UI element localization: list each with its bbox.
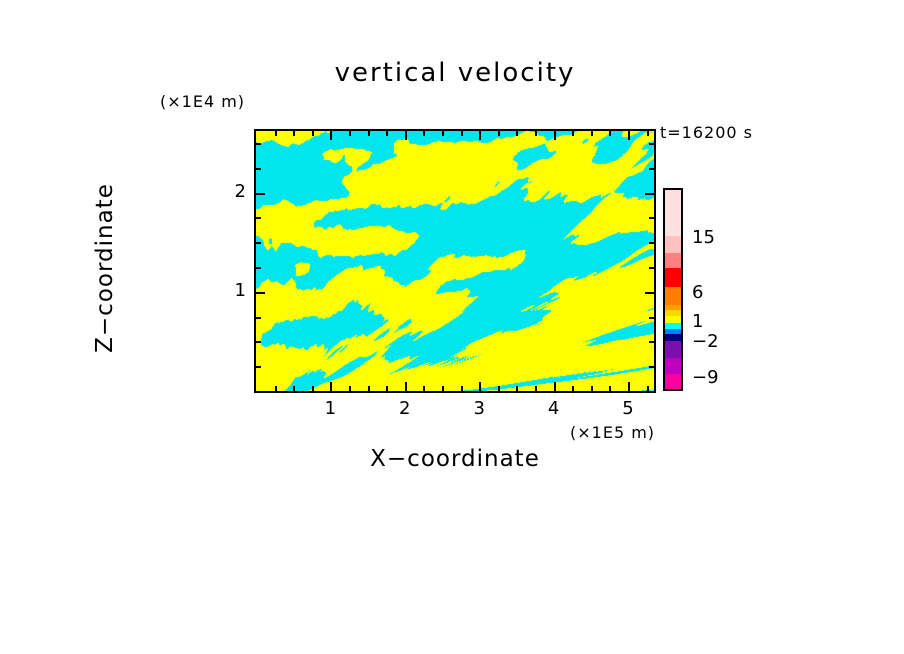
- tick-mark: [591, 131, 593, 136]
- tick-mark: [535, 386, 537, 391]
- tick-mark: [423, 386, 425, 391]
- y-axis-label: Z−coordinate: [92, 158, 118, 378]
- tick-mark: [649, 341, 654, 343]
- tick-mark: [628, 382, 630, 391]
- colorbar: [663, 188, 683, 391]
- tick-mark: [647, 386, 649, 391]
- tick-mark: [256, 242, 261, 244]
- tick-mark: [312, 386, 314, 391]
- tick-mark: [479, 382, 481, 391]
- colorbar-tick-label: −9: [692, 367, 719, 388]
- colorbar-band: [665, 334, 681, 341]
- tick-mark: [645, 193, 654, 195]
- tick-mark: [405, 131, 407, 140]
- tick-mark: [256, 292, 265, 294]
- tick-mark: [498, 131, 500, 136]
- x-axis-units: (×1E5 m): [570, 423, 655, 442]
- tick-mark: [275, 131, 277, 136]
- tick-mark: [330, 131, 332, 140]
- tick-mark: [649, 267, 654, 269]
- tick-mark: [349, 131, 351, 136]
- colorbar-tick-label: −2: [692, 331, 719, 352]
- tick-mark: [479, 131, 481, 140]
- tick-mark: [256, 366, 261, 368]
- tick-mark: [275, 386, 277, 391]
- tick-mark: [554, 382, 556, 391]
- x-tick-label: 5: [613, 398, 643, 419]
- colorbar-band: [665, 341, 681, 358]
- tick-mark: [516, 131, 518, 136]
- tick-mark: [649, 143, 654, 145]
- tick-mark: [649, 366, 654, 368]
- tick-mark: [649, 168, 654, 170]
- tick-mark: [256, 217, 261, 219]
- tick-mark: [349, 386, 351, 391]
- vertical-velocity-figure: vertical velocity (×1E4 m) t=16200 s Z−c…: [0, 0, 904, 654]
- tick-mark: [256, 267, 261, 269]
- tick-mark: [572, 386, 574, 391]
- y-tick-label: 2: [216, 181, 246, 202]
- tick-mark: [649, 242, 654, 244]
- tick-mark: [330, 382, 332, 391]
- tick-mark: [256, 193, 265, 195]
- tick-mark: [293, 386, 295, 391]
- tick-mark: [572, 131, 574, 136]
- colorbar-tick-label: 1: [692, 311, 703, 332]
- tick-mark: [386, 386, 388, 391]
- colorbar-band: [665, 190, 681, 236]
- tick-mark: [649, 217, 654, 219]
- tick-mark: [405, 382, 407, 391]
- tick-mark: [645, 292, 654, 294]
- colorbar-band: [665, 268, 681, 287]
- tick-mark: [256, 317, 261, 319]
- tick-mark: [554, 131, 556, 140]
- tick-mark: [442, 131, 444, 136]
- y-axis-units: (×1E4 m): [160, 92, 245, 111]
- tick-mark: [386, 131, 388, 136]
- colorbar-band: [665, 316, 681, 323]
- velocity-field-canvas: [256, 131, 654, 391]
- tick-mark: [609, 386, 611, 391]
- x-axis-label: X−coordinate: [254, 446, 656, 472]
- tick-mark: [256, 143, 261, 145]
- colorbar-band: [665, 374, 681, 391]
- timestamp-annotation: t=16200 s: [660, 123, 753, 142]
- tick-mark: [293, 131, 295, 136]
- tick-mark: [256, 168, 261, 170]
- tick-mark: [368, 131, 370, 136]
- tick-mark: [628, 131, 630, 140]
- heatmap-plot-area: [254, 129, 656, 393]
- x-tick-label: 1: [315, 398, 345, 419]
- tick-mark: [609, 131, 611, 136]
- colorbar-band: [665, 236, 681, 253]
- colorbar-band: [665, 287, 681, 305]
- tick-mark: [256, 341, 261, 343]
- page-title: vertical velocity: [254, 58, 656, 88]
- tick-mark: [461, 386, 463, 391]
- colorbar-band: [665, 358, 681, 374]
- tick-mark: [368, 386, 370, 391]
- tick-mark: [461, 131, 463, 136]
- tick-mark: [498, 386, 500, 391]
- tick-mark: [649, 317, 654, 319]
- tick-mark: [535, 131, 537, 136]
- tick-mark: [442, 386, 444, 391]
- x-tick-label: 4: [539, 398, 569, 419]
- x-tick-label: 2: [390, 398, 420, 419]
- tick-mark: [647, 131, 649, 136]
- tick-mark: [516, 386, 518, 391]
- colorbar-tick-label: 6: [692, 282, 703, 303]
- colorbar-band: [665, 253, 681, 268]
- tick-mark: [423, 131, 425, 136]
- x-tick-label: 3: [464, 398, 494, 419]
- colorbar-tick-label: 15: [692, 227, 715, 248]
- tick-mark: [591, 386, 593, 391]
- tick-mark: [312, 131, 314, 136]
- y-tick-label: 1: [216, 280, 246, 301]
